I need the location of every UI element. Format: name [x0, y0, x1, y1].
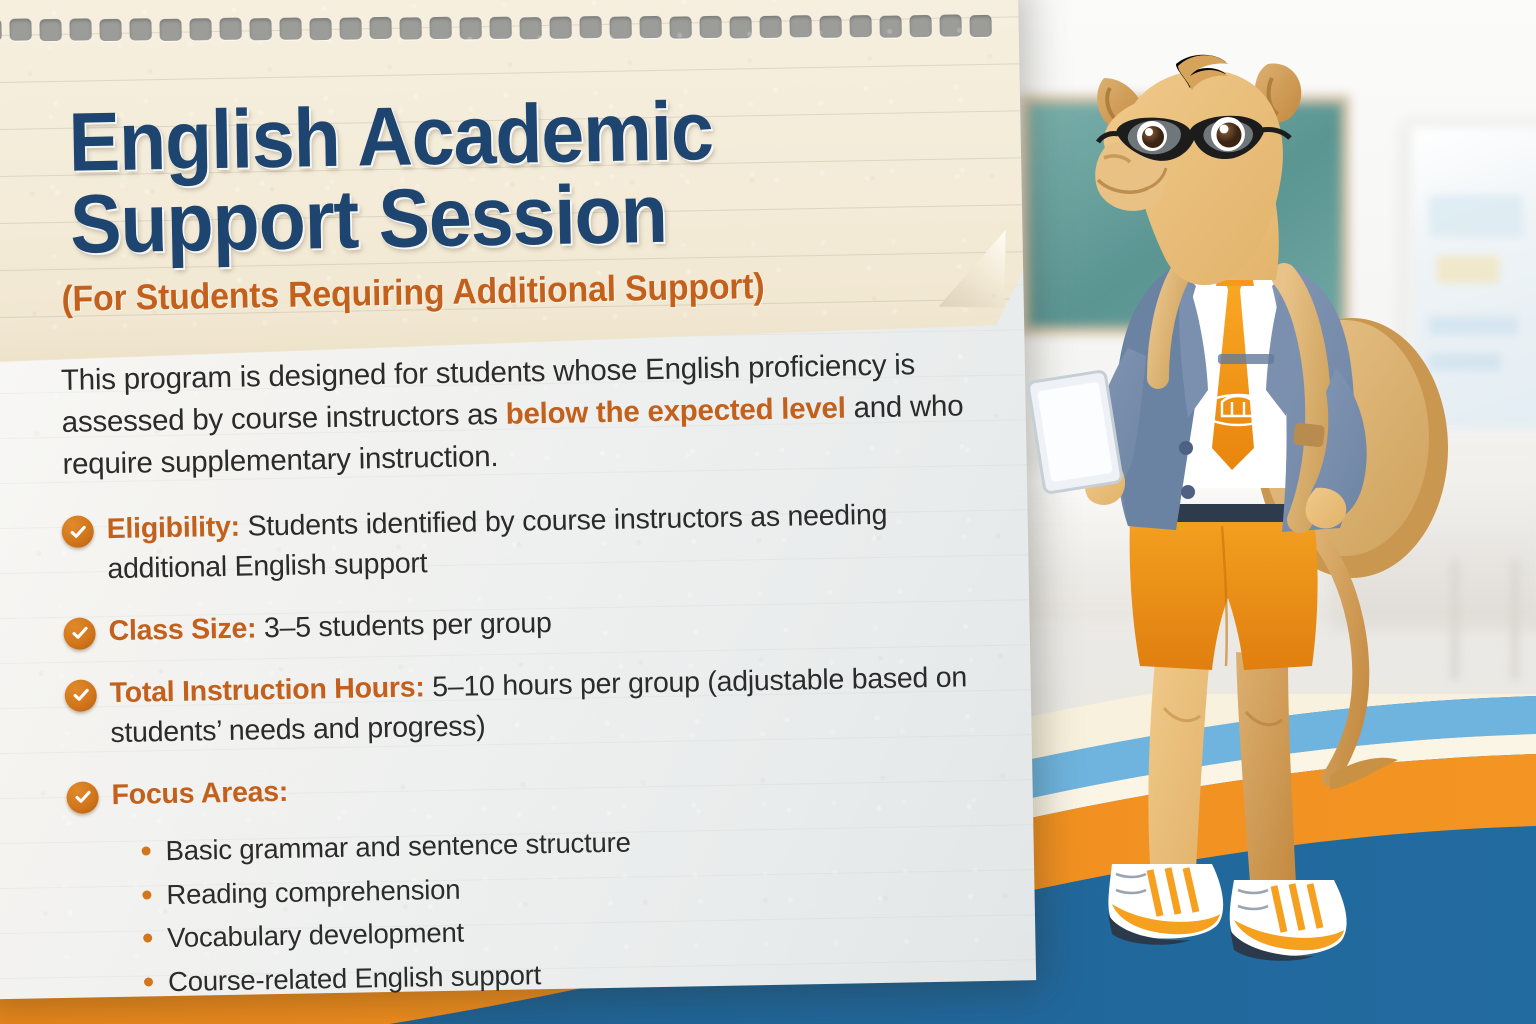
checklist-item-label: Class Size: — [108, 612, 256, 647]
bullet-dot-icon — [144, 977, 153, 986]
checklist-item-text: Class Size: 3–5 students per group — [108, 604, 552, 652]
focus-area-label: Reading comprehension — [166, 873, 461, 913]
blazer-button — [1179, 441, 1193, 455]
camel-student-mascot — [1000, 18, 1536, 1008]
page-title: English Academic Support Session — [68, 87, 958, 265]
poster-content: English Academic Support Session (For St… — [0, 0, 1039, 1024]
checklist-item-text: Focus Areas: — [111, 772, 288, 815]
shoe-right — [1230, 880, 1347, 961]
checklist-item-text: Total Instruction Hours: 5–10 hours per … — [109, 658, 990, 754]
leg-right — [1236, 652, 1296, 884]
leg-left — [1148, 648, 1210, 870]
check-circle-icon — [63, 617, 96, 650]
details-checklist: Eligibility: Students identified by cour… — [61, 494, 996, 816]
checklist-item-label: Focus Areas: — [111, 775, 288, 810]
intro-paragraph: This program is designed for students wh… — [61, 344, 968, 485]
checklist-item: Eligibility: Students identified by cour… — [61, 494, 992, 591]
checklist-item: Class Size: 3–5 students per group — [63, 596, 994, 653]
focus-area-item: Vocabulary development — [143, 905, 1037, 956]
tablet — [1028, 371, 1123, 494]
shoe-left — [1108, 864, 1223, 945]
title-line-2: Support Session — [69, 168, 958, 264]
focus-area-label: Course-related English support — [168, 958, 542, 999]
bullet-dot-icon — [142, 847, 151, 856]
blazer-button — [1181, 485, 1195, 499]
check-circle-icon — [64, 679, 97, 712]
focus-area-item: Course-related English support — [144, 949, 1038, 1000]
bullet-dot-icon — [143, 934, 152, 943]
focus-area-label: Vocabulary development — [167, 916, 464, 956]
bullet-dot-icon — [142, 890, 151, 899]
checklist-item-label: Eligibility: — [106, 511, 240, 545]
page-subtitle: (For Students Requiring Additional Suppo… — [61, 262, 968, 321]
focus-area-label: Basic grammar and sentence structure — [165, 826, 631, 869]
check-circle-icon — [61, 515, 94, 548]
checklist-item: Total Instruction Hours: 5–10 hours per … — [64, 658, 995, 755]
checklist-item: Focus Areas: — [66, 759, 997, 816]
poster-canvas: English Academic Support Session (For St… — [0, 0, 1536, 1024]
checklist-item-label: Total Instruction Hours: — [109, 671, 424, 709]
focus-area-item: Basic grammar and sentence structure — [141, 819, 1035, 870]
check-circle-icon — [66, 781, 99, 814]
checklist-item-text: Eligibility: Students identified by cour… — [106, 494, 987, 590]
focus-area-item: Reading comprehension — [142, 862, 1036, 913]
focus-areas-list: Basic grammar and sentence structureRead… — [141, 819, 1038, 1000]
intro-highlight: below the expected level — [505, 392, 845, 431]
